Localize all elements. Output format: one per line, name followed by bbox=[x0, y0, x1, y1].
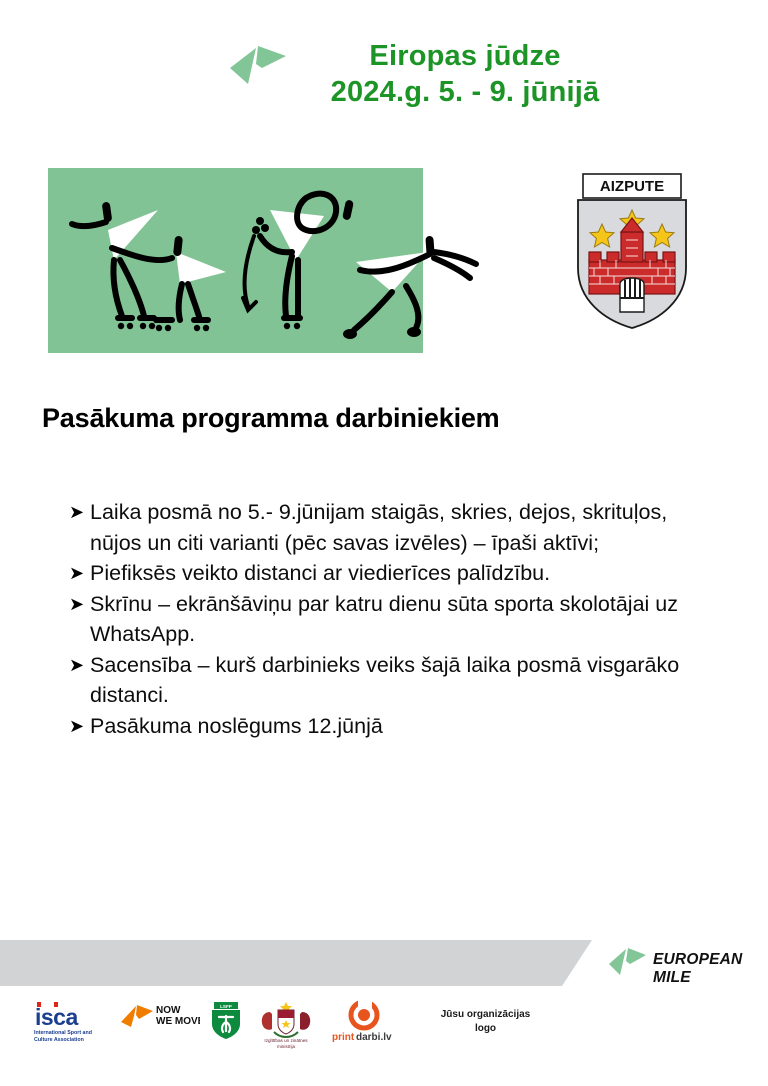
footer-band: EUROPEAN MILE bbox=[0, 940, 768, 986]
svg-text:isca: isca bbox=[35, 1004, 78, 1030]
chevron-bullet-icon: ➤ bbox=[69, 711, 85, 741]
svg-text:WE MOVE: WE MOVE bbox=[156, 1016, 200, 1027]
list-item-text: Piefiksēs veikto distanci ar viedierīces… bbox=[90, 561, 550, 585]
isca-logo: isca International Sport and Culture Ass… bbox=[32, 1000, 126, 1056]
now-we-move-logo: NOW WE MOVE bbox=[120, 1000, 200, 1056]
footer-grey-stripe bbox=[0, 940, 592, 986]
page-header: Eiropas jūdze 2024.g. 5. - 9. jūnijā bbox=[0, 0, 768, 140]
list-item: ➤ Sacensība – kurš darbinieks veiks šajā… bbox=[68, 650, 708, 711]
aizpute-coat-of-arms: AIZPUTE bbox=[572, 172, 692, 330]
list-item-text: Sacensība – kurš darbinieks veiks šajā l… bbox=[90, 653, 679, 708]
chevron-bullet-icon: ➤ bbox=[69, 497, 85, 527]
svg-text:NOW: NOW bbox=[156, 1005, 181, 1016]
list-item: ➤ Laika posmā no 5.- 9.jūnijam staigās, … bbox=[68, 497, 708, 558]
european-mile-arrow-icon bbox=[608, 945, 648, 977]
your-logo-line-1: Jūsu organizācijas bbox=[441, 1009, 530, 1020]
svg-text:LSFP: LSFP bbox=[220, 1004, 232, 1009]
chevron-bullet-icon: ➤ bbox=[69, 589, 85, 619]
your-organization-logo-placeholder: Jūsu organizācijas logo bbox=[398, 1008, 573, 1036]
european-mile-wordmark: EUROPEAN MILE bbox=[653, 951, 768, 987]
chevron-bullet-icon: ➤ bbox=[69, 558, 85, 588]
svg-text:print: print bbox=[332, 1032, 355, 1043]
izm-subtitle: Izglītības un zinātnes ministrija bbox=[252, 1038, 320, 1050]
isca-subtitle-line-1: International Sport and bbox=[34, 1030, 126, 1037]
program-bullet-list: ➤ Laika posmā no 5.- 9.jūnijam staigās, … bbox=[68, 497, 708, 741]
chevron-bullet-icon: ➤ bbox=[69, 650, 85, 680]
list-item: ➤ Piefiksēs veikto distanci ar viedierīc… bbox=[68, 558, 708, 589]
sponsor-logo-row: isca International Sport and Culture Ass… bbox=[0, 1000, 768, 1060]
isca-subtitle-line-2: Culture Association bbox=[34, 1037, 126, 1044]
list-item-text: Skrīnu – ekrānšāviņu par katru dienu sūt… bbox=[90, 592, 678, 647]
section-heading: Pasākuma programma darbiniekiem bbox=[42, 403, 500, 434]
stick-figures-skating-illustration bbox=[48, 160, 568, 370]
list-item-text: Pasākuma noslēgums 12.jūnjā bbox=[90, 714, 383, 738]
list-item: ➤ Pasākuma noslēgums 12.jūnjā bbox=[68, 711, 708, 742]
page-title: Eiropas jūdze 2024.g. 5. - 9. jūnijā bbox=[255, 38, 675, 110]
lsfp-logo: LSFP bbox=[205, 1000, 247, 1056]
izm-subtitle-line-2: ministrija bbox=[252, 1044, 320, 1050]
printdarbi-logo: print darbi.lv bbox=[328, 1000, 400, 1056]
izm-logo: Izglītības un zinātnes ministrija bbox=[252, 1000, 320, 1056]
coat-of-arms-town-label: AIZPUTE bbox=[600, 178, 664, 195]
list-item: ➤ Skrīnu – ekrānšāviņu par katru dienu s… bbox=[68, 589, 708, 650]
page-title-line-2: 2024.g. 5. - 9. jūnijā bbox=[255, 74, 675, 110]
your-logo-line-2: logo bbox=[398, 1022, 573, 1036]
svg-text:darbi.lv: darbi.lv bbox=[356, 1032, 392, 1043]
list-item-text: Laika posmā no 5.- 9.jūnijam staigās, sk… bbox=[90, 500, 667, 555]
isca-subtitle: International Sport and Culture Associat… bbox=[34, 1030, 126, 1043]
page-title-line-1: Eiropas jūdze bbox=[369, 40, 560, 72]
